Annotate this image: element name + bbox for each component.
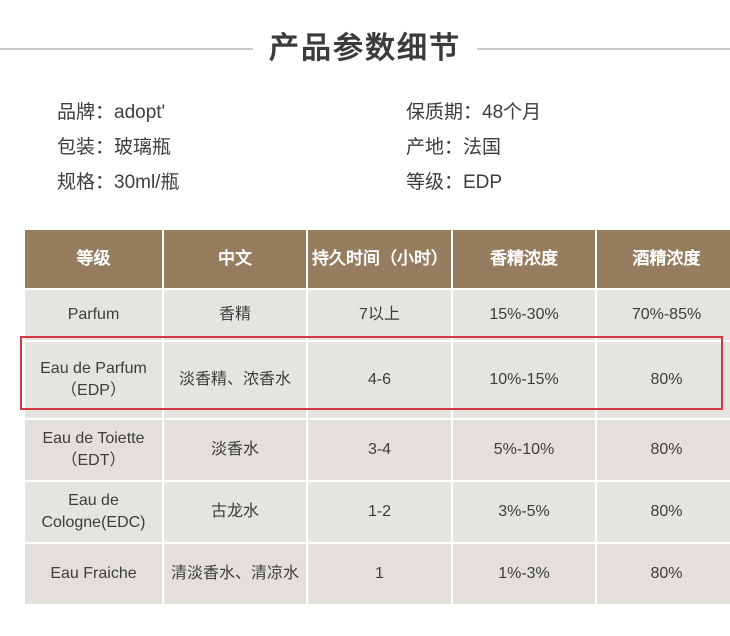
cell-chinese: 淡香精、浓香水: [164, 342, 306, 418]
table-row-highlighted: Eau de Parfum（EDP） 淡香精、浓香水 4-6 10%-15% 8…: [25, 342, 730, 418]
column-header-duration: 持久时间（小时）: [308, 230, 451, 288]
cell-chinese: 清淡香水、清凉水: [164, 544, 306, 604]
cell-alcohol: 80%: [597, 544, 730, 604]
cell-chinese: 香精: [164, 290, 306, 340]
spec-size: 规格：30ml/瓶: [57, 170, 350, 196]
cell-grade: Eau de Toiette（EDT）: [25, 420, 162, 480]
spec-grade: 等级：EDP: [406, 170, 730, 196]
column-header-alcohol: 酒精浓度: [597, 230, 730, 288]
title-rule-right: [477, 48, 730, 50]
spec-brand: 品牌：adopt': [57, 100, 350, 126]
cell-grade: Eau de Parfum（EDP）: [25, 342, 162, 418]
cell-grade: Eau Fraiche: [25, 544, 162, 604]
cell-alcohol: 80%: [597, 342, 730, 418]
cell-grade: Eau de Cologne(EDC): [25, 482, 162, 542]
cell-duration: 3-4: [308, 420, 451, 480]
cell-duration: 7以上: [308, 290, 451, 340]
column-header-grade: 等级: [25, 230, 162, 288]
spec-column-left: 品牌：adopt' 包装：玻璃瓶 规格：30ml/瓶: [0, 100, 350, 210]
product-spec-block: 品牌：adopt' 包装：玻璃瓶 规格：30ml/瓶 保质期：48个月 产地：法…: [0, 100, 730, 210]
cell-essence: 3%-5%: [453, 482, 595, 542]
table-row: Parfum 香精 7以上 15%-30% 70%-85%: [25, 290, 730, 340]
column-header-essence: 香精浓度: [453, 230, 595, 288]
table-row: Eau de Toiette（EDT） 淡香水 3-4 5%-10% 80%: [25, 420, 730, 480]
cell-grade: Parfum: [25, 290, 162, 340]
cell-alcohol: 80%: [597, 482, 730, 542]
column-header-chinese: 中文: [164, 230, 306, 288]
spec-packaging: 包装：玻璃瓶: [57, 135, 350, 161]
cell-essence: 10%-15%: [453, 342, 595, 418]
cell-duration: 4-6: [308, 342, 451, 418]
cell-chinese: 淡香水: [164, 420, 306, 480]
title-rule-left: [0, 48, 253, 50]
page-header: 产品参数细节: [0, 22, 730, 76]
spec-origin: 产地：法国: [406, 135, 730, 161]
table-row: Eau Fraiche 清淡香水、清凉水 1 1%-3% 80%: [25, 544, 730, 604]
spec-shelf-life: 保质期：48个月: [406, 100, 730, 126]
cell-alcohol: 70%-85%: [597, 290, 730, 340]
cell-duration: 1: [308, 544, 451, 604]
page-title: 产品参数细节: [269, 34, 461, 64]
table-header-row: 等级 中文 持久时间（小时） 香精浓度 酒精浓度: [25, 230, 730, 288]
cell-essence: 5%-10%: [453, 420, 595, 480]
fragrance-comparison-table: 等级 中文 持久时间（小时） 香精浓度 酒精浓度 Parfum 香精 7以上 1…: [23, 228, 724, 606]
cell-essence: 15%-30%: [453, 290, 595, 340]
cell-alcohol: 80%: [597, 420, 730, 480]
cell-essence: 1%-3%: [453, 544, 595, 604]
table-row: Eau de Cologne(EDC) 古龙水 1-2 3%-5% 80%: [25, 482, 730, 542]
spec-column-right: 保质期：48个月 产地：法国 等级：EDP: [350, 100, 730, 210]
cell-duration: 1-2: [308, 482, 451, 542]
cell-chinese: 古龙水: [164, 482, 306, 542]
